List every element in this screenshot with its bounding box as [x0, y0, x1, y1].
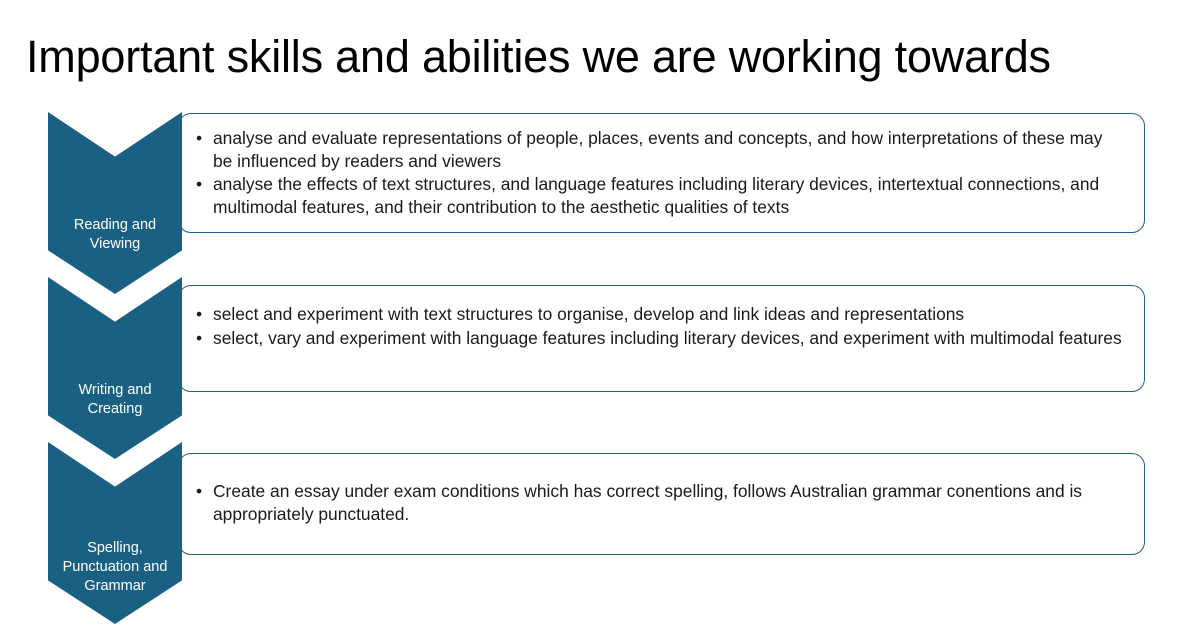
bullet-item: select, vary and experiment with languag… [193, 327, 1126, 350]
chevron-label: Reading and Viewing [48, 216, 182, 254]
bullet-item: select and experiment with text structur… [193, 303, 1126, 326]
chevron-label-line: Reading and [74, 217, 156, 233]
slide-canvas: Important skills and abilities we are wo… [0, 0, 1187, 640]
content-box-reading-and-viewing: analyse and evaluate representations of … [178, 113, 1145, 233]
content-box-writing-and-creating: select and experiment with text structur… [178, 285, 1145, 392]
chevron-writing-and-creating[interactable]: Writing and Creating [48, 277, 182, 459]
chevron-label: Spelling, Punctuation and Grammar [48, 539, 182, 596]
content-box-spelling-punctuation-and-grammar: Create an essay under exam conditions wh… [178, 453, 1145, 555]
bullet-item: analyse and evaluate representations of … [193, 127, 1126, 172]
chevron-label-line: Viewing [90, 236, 141, 252]
chevron-label: Writing and Creating [48, 381, 182, 419]
chevron-spelling-punctuation-and-grammar[interactable]: Spelling, Punctuation and Grammar [48, 442, 182, 624]
chevron-reading-and-viewing[interactable]: Reading and Viewing [48, 112, 182, 294]
chevron-label-line: Writing and [78, 382, 151, 398]
chevron-label-line: Spelling, [87, 540, 143, 556]
chevron-label-line: Grammar [84, 578, 145, 594]
chevron-label-line: Creating [88, 401, 143, 417]
bullet-list: Create an essay under exam conditions wh… [193, 480, 1126, 525]
page-title: Important skills and abilities we are wo… [26, 26, 1156, 88]
content-box-inner: analyse and evaluate representations of … [179, 114, 1144, 219]
content-box-inner: Create an essay under exam conditions wh… [179, 454, 1144, 525]
bullet-list: select and experiment with text structur… [193, 303, 1126, 349]
bullet-list: analyse and evaluate representations of … [193, 127, 1126, 219]
content-box-inner: select and experiment with text structur… [179, 286, 1144, 349]
chevron-label-line: Punctuation and [63, 559, 168, 575]
bullet-item: analyse the effects of text structures, … [193, 173, 1126, 218]
bullet-item: Create an essay under exam conditions wh… [193, 480, 1126, 525]
